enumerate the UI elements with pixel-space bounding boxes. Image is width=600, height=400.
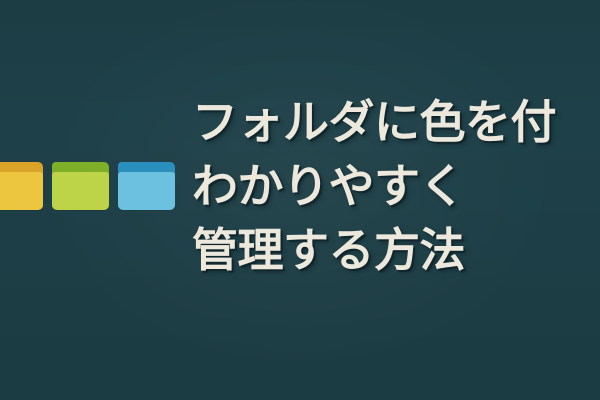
blue-folder-body — [118, 172, 175, 210]
headline: フォルダに色を付 わかりやすく 管理する方法 — [192, 90, 592, 282]
headline-line-2: わかりやすく — [192, 154, 592, 218]
headline-line-3: 管理する方法 — [192, 218, 592, 282]
yellow-folder-body — [0, 172, 43, 210]
yellow-folder-icon — [0, 162, 43, 210]
green-folder-body — [52, 172, 109, 210]
blue-folder-icon — [118, 162, 175, 210]
banner: フォルダに色を付 わかりやすく 管理する方法 — [0, 0, 600, 400]
green-folder-icon — [52, 162, 109, 210]
headline-line-1: フォルダに色を付 — [192, 90, 592, 154]
folder-icon-row — [0, 162, 175, 210]
